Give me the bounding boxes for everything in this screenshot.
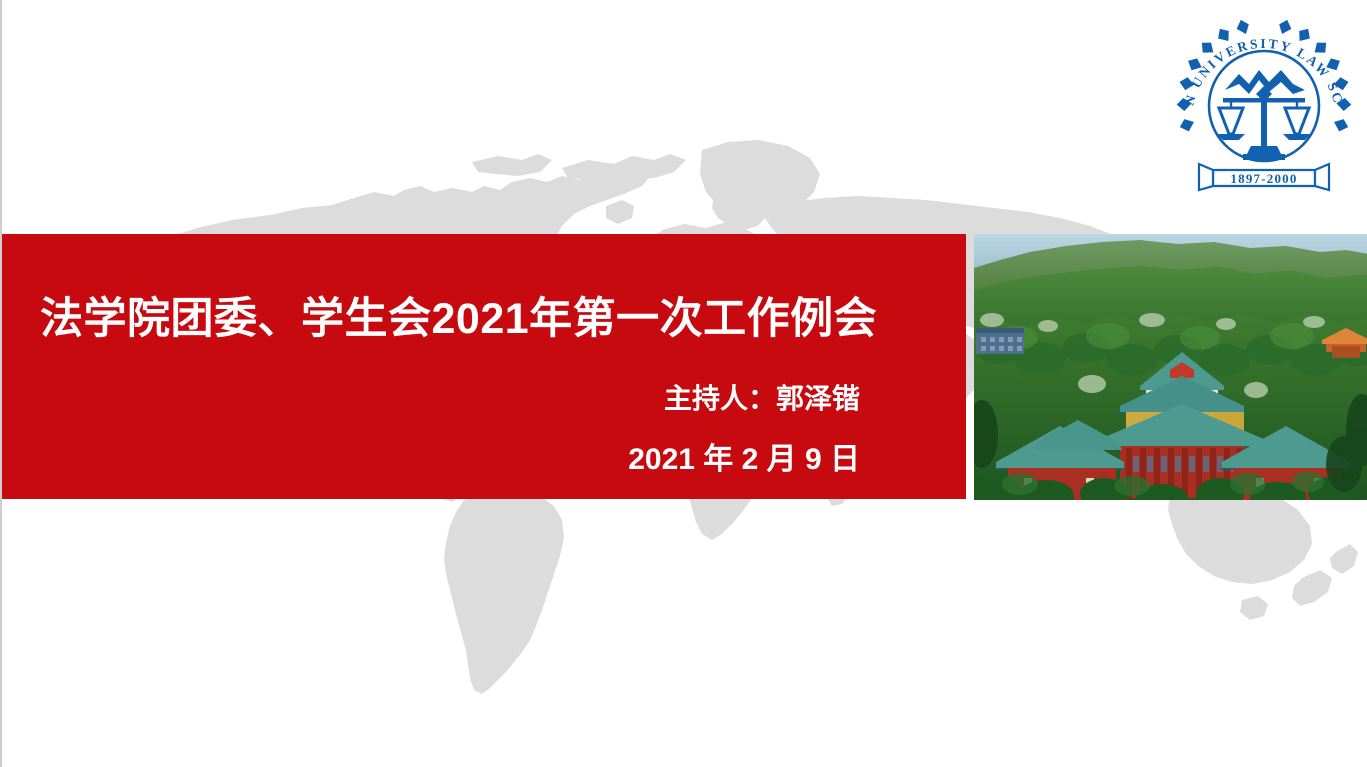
host-line: 主持人：郭泽锴 — [664, 382, 860, 416]
date-line: 2021 年 2 月 9 日 — [628, 442, 860, 478]
campus-building-photograph — [974, 234, 1367, 500]
page-title: 法学院团委、学生会2021年第一次工作例会 — [40, 296, 877, 343]
logo-ribbon-text: 1897-2000 — [1230, 171, 1297, 186]
title-banner: 法学院团委、学生会2021年第一次工作例会 主持人：郭泽锴 2021 年 2 月… — [2, 234, 966, 499]
hunan-university-law-school-logo: HUNAN UNIVERSITY LAW SCHOOL — [1173, 8, 1355, 194]
title-slide: 法学院团委、学生会2021年第一次工作例会 主持人：郭泽锴 2021 年 2 月… — [0, 0, 1367, 767]
